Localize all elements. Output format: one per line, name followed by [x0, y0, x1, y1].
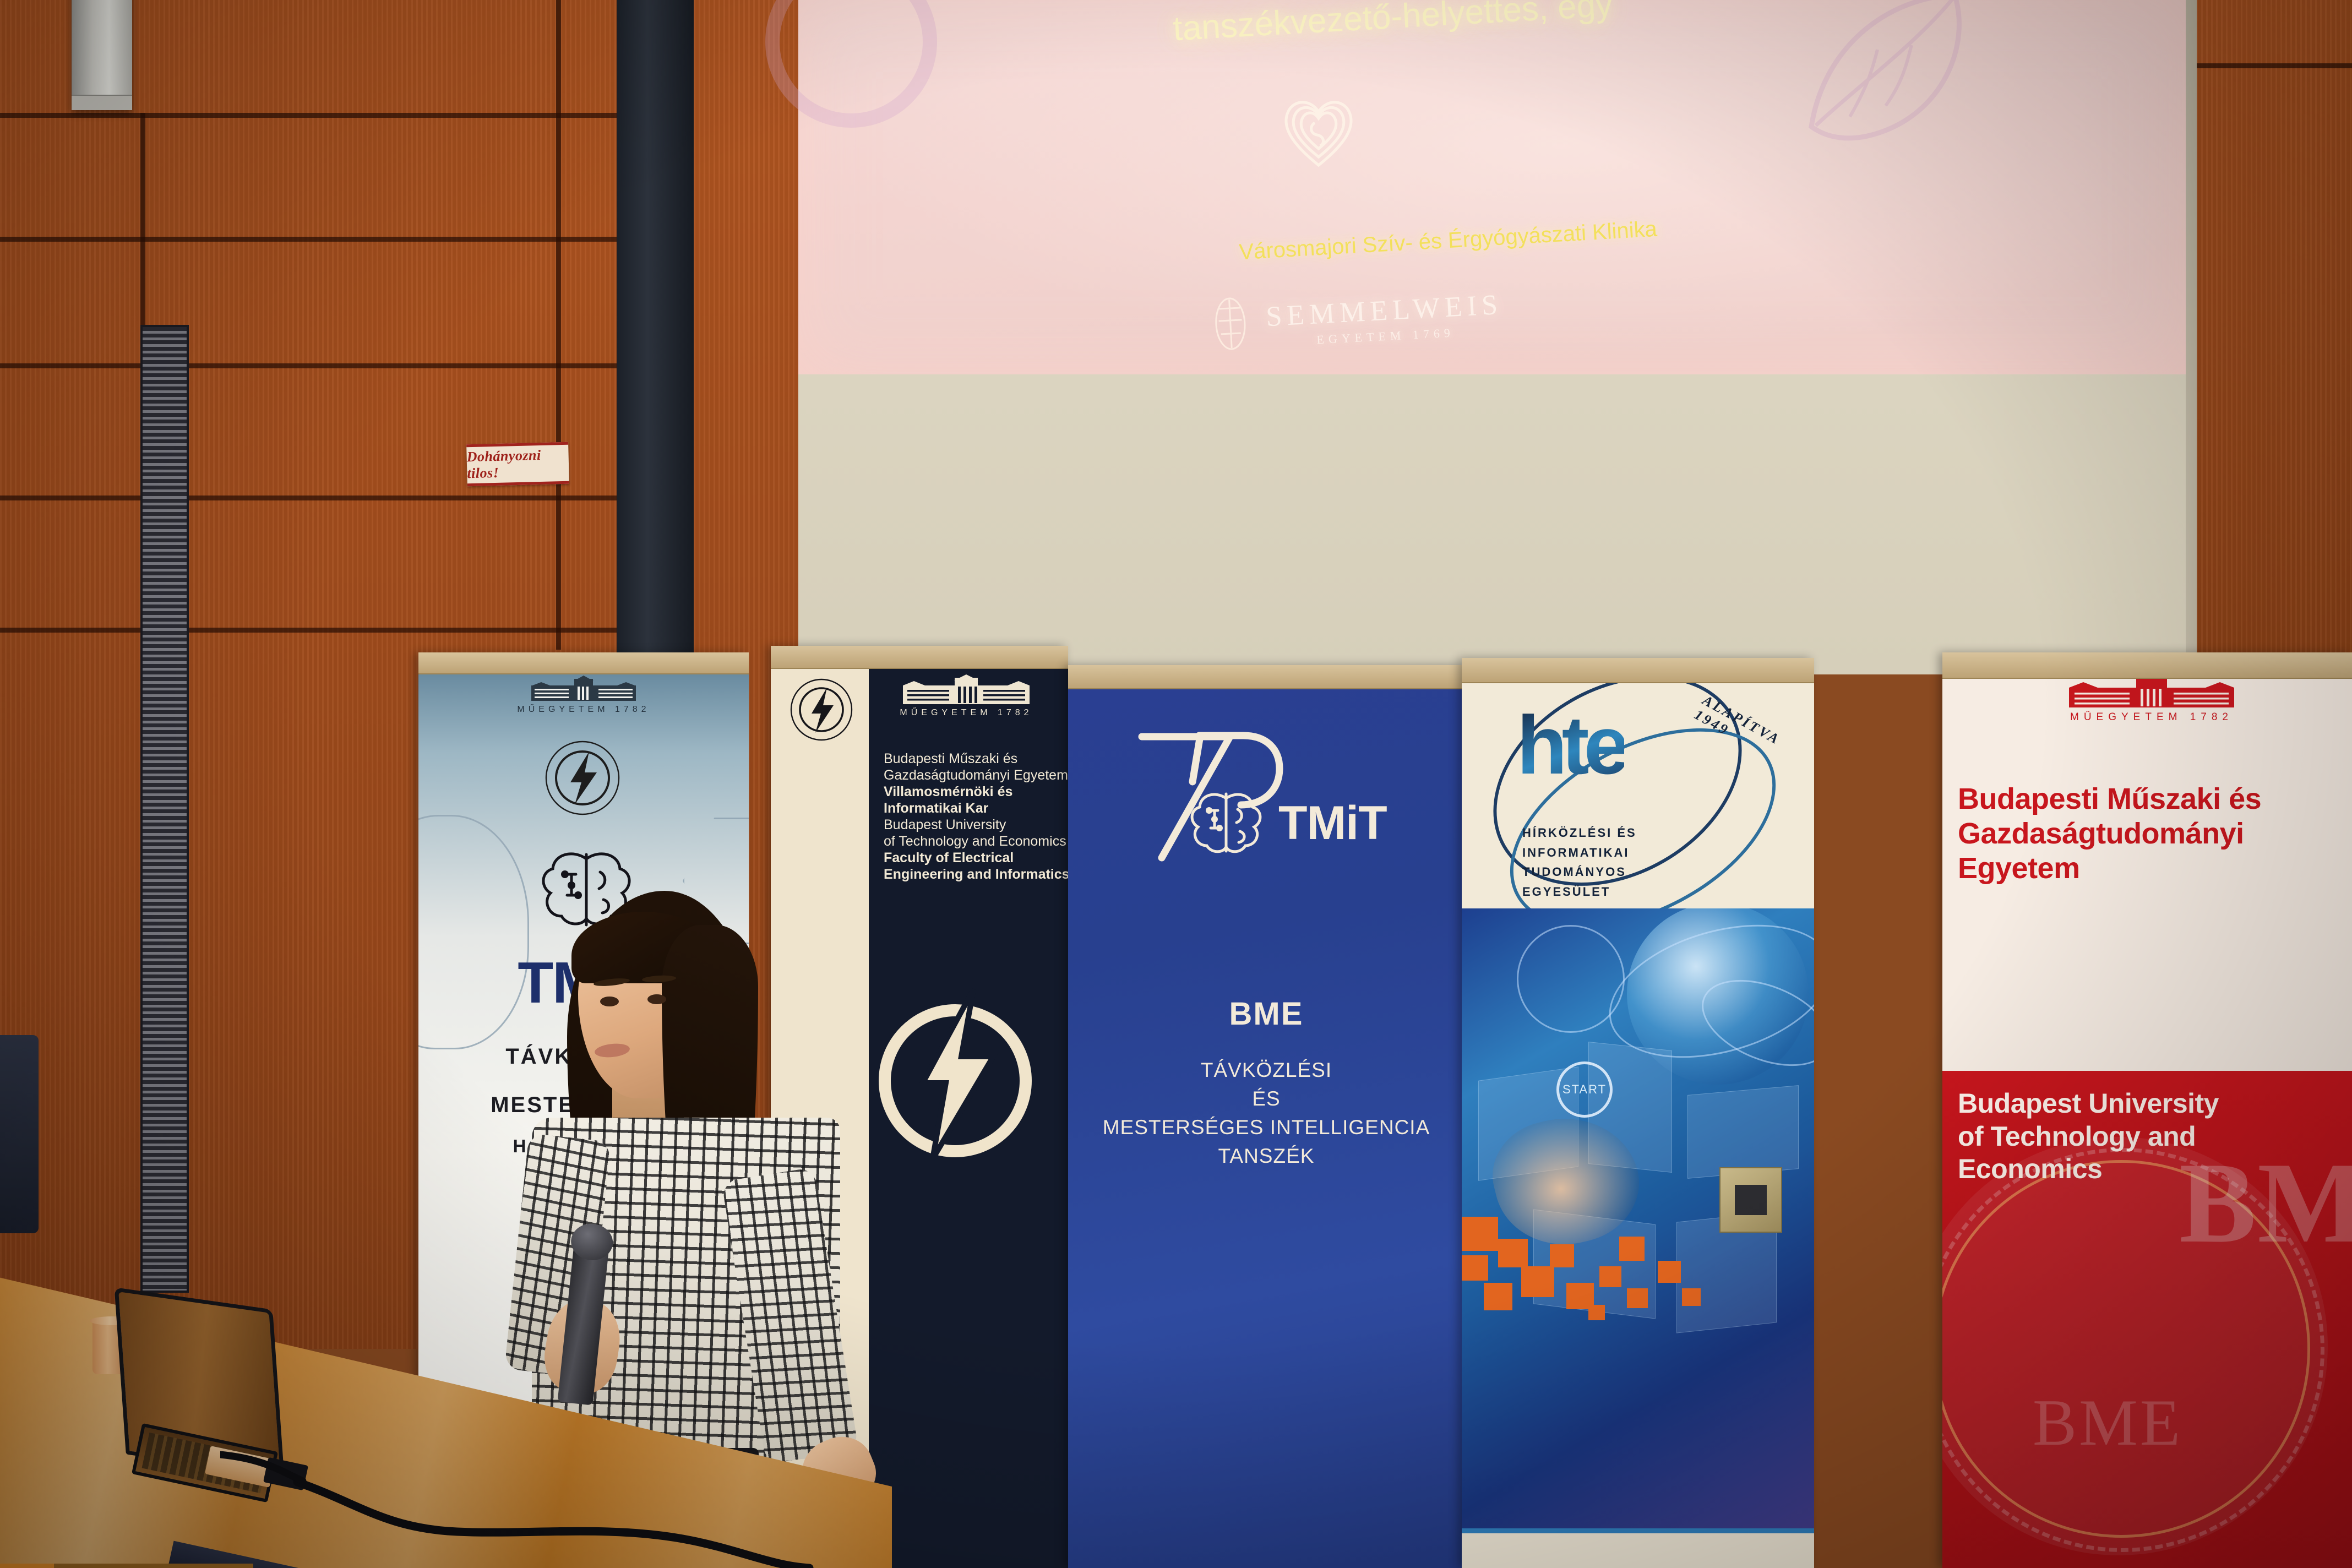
hte-line-3: EGYESÜLET: [1522, 882, 1637, 902]
tmit-brand-blue: TMiT: [1278, 796, 1387, 851]
banner3-line-3: TANSZÉK: [1068, 1142, 1464, 1170]
slide-leaf-decoration: [1789, 0, 2021, 154]
banner-tmit-blue: TMiT BME TÁVKÖZLÉSI ÉS MESTERSÉGES INTEL…: [1068, 665, 1464, 1568]
heart-outline-logo: [1277, 91, 1360, 171]
hte-line-2: TUDOMÁNYOS: [1522, 862, 1637, 882]
eye-right: [647, 994, 666, 1004]
banner3-org: BME: [1068, 995, 1464, 1032]
vik-seal-icon-dark: [790, 678, 853, 742]
chair: [0, 1035, 39, 1233]
hte-line-1: INFORMATIKAI: [1522, 843, 1637, 863]
dark-wall-strip: [617, 0, 694, 694]
bme-en-line-0: Budapest University: [1958, 1087, 2352, 1120]
banner3-line-2: MESTERSÉGES INTELLIGENCIA: [1068, 1113, 1464, 1142]
eye-left: [600, 997, 619, 1006]
brain-logo-blue: [1185, 785, 1267, 859]
hte-brand: hte: [1517, 698, 1624, 793]
no-smoking-sign: Dohányozni tilos!: [466, 442, 569, 486]
crest-caption-red: MŰEGYETEM 1782: [1997, 711, 2306, 723]
seal-bme-small: BME: [2033, 1385, 2182, 1461]
vik-line-5: Faculty of Electrical: [884, 850, 1068, 866]
vik-line-6: Engineering and Informatics: [884, 866, 1068, 883]
projected-slide: tanszékvezető-helyettes, egy Városmajori…: [798, 0, 2186, 374]
bme-hu-line-2: Egyetem: [1958, 851, 2352, 886]
bme-en-line-2: Economics: [1958, 1153, 2352, 1186]
bme-hu-line-1: Gazdaságtudományi: [1958, 816, 2352, 851]
bme-en-line-1: of Technology and: [1958, 1120, 2352, 1153]
hte-tech-collage: START: [1462, 908, 1814, 1568]
banner-bme-red: BME BME MŰEGYETEM 1782: [1942, 652, 2352, 1568]
cpu-chip-graphic: [1719, 1167, 1782, 1233]
vik-line-1: Gazdaságtudományi Egyetem: [884, 767, 1068, 783]
hte-line-0: HÍRKÖZLÉSI ÉS: [1522, 823, 1637, 843]
start-button-graphic: START: [1556, 1061, 1613, 1118]
vik-line-2: Villamosmérnöki és Informatikai Kar: [884, 783, 1068, 816]
crest-caption-dark: MŰEGYETEM 1782: [886, 708, 1046, 718]
semmelweis-crest-icon: [1204, 291, 1257, 360]
lightning-bolt-in-circle-logo: [875, 983, 1035, 1164]
wood-wall-right: [2191, 0, 2352, 669]
crest-caption: MŰEGYETEM 1782: [479, 705, 688, 715]
vik-line-4: of Technology and Economics: [884, 833, 1068, 850]
wall-vent-grille: [140, 325, 189, 1293]
banner3-line-1: ÉS: [1068, 1085, 1464, 1113]
no-smoking-label: Dohányozni tilos!: [466, 447, 569, 482]
photo-scene: Dohányozni tilos! tanszékvezető-helyette…: [0, 0, 2352, 1568]
projection-screen: tanszékvezető-helyettes, egy Városmajori…: [798, 0, 2186, 674]
bme-crest-red: MŰEGYETEM 1782: [1997, 674, 2306, 723]
vik-line-0: Budapesti Műszaki és: [884, 750, 1068, 767]
bme-crest-light: MŰEGYETEM 1782: [479, 676, 688, 715]
vik-heading-block: Budapesti Műszaki és Gazdaságtudományi E…: [884, 750, 1068, 883]
bme-hu-line-0: Budapesti Műszaki és: [1958, 782, 2352, 816]
bme-crest-dark: MŰEGYETEM 1782: [886, 674, 1046, 718]
vik-line-3: Budapest University: [884, 816, 1068, 833]
banner3-line-0: TÁVKÖZLÉSI: [1068, 1056, 1464, 1085]
vik-seal-icon: [544, 739, 621, 816]
banner-hte: hte ALAPÍTVA 1949 HÍRKÖZLÉSI ÉS INFORMAT…: [1462, 658, 1814, 1568]
ceiling-light-fixture: [72, 0, 132, 110]
